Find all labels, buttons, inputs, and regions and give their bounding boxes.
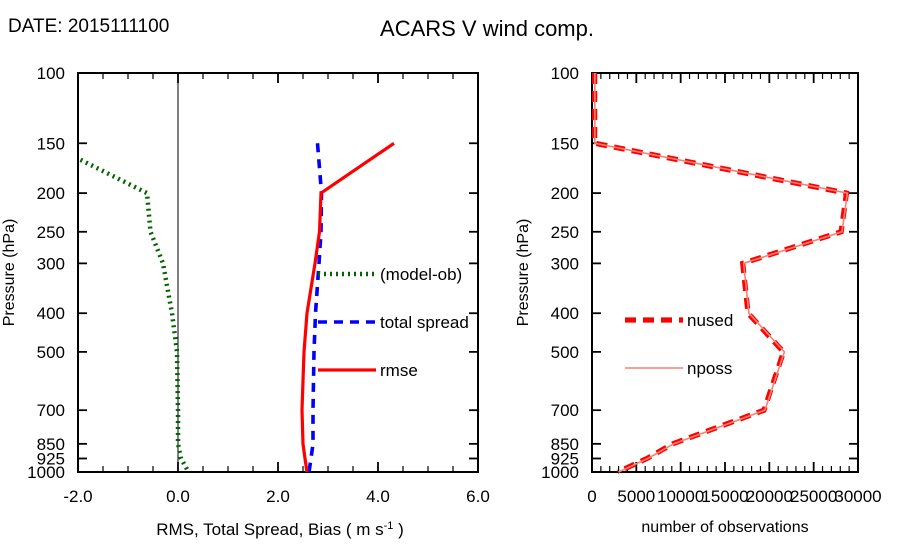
y-tick-label: 300 — [551, 254, 579, 273]
page-title: ACARS V wind comp. — [380, 16, 594, 41]
legend-label-nposs: nposs — [687, 359, 732, 378]
y-tick-label: 200 — [37, 184, 65, 203]
chart-page: DATE: 2015111100 ACARS V wind comp. 1001… — [0, 0, 900, 560]
y-tick-label: 100 — [551, 64, 579, 83]
y-tick-label: 250 — [551, 223, 579, 242]
left-x-axis-title-main: RMS, Total Spread, Bias ( m s — [156, 520, 383, 539]
x-tick-label: 5000 — [617, 487, 655, 506]
y-tick-label: 300 — [37, 254, 65, 273]
legend-label-total-spread: total spread — [380, 313, 469, 332]
y-tick-label: 400 — [551, 304, 579, 323]
y-tick-label: 700 — [37, 401, 65, 420]
y-tick-label: 150 — [37, 134, 65, 153]
y-axis-title: Pressure (hPa) — [515, 219, 532, 327]
y-tick-label: 250 — [37, 223, 65, 242]
y-tick-label: 100 — [37, 64, 65, 83]
x-tick-label: 4.0 — [366, 487, 390, 506]
y-tick-label: 150 — [551, 134, 579, 153]
legend-label--model-ob-: (model-ob) — [380, 265, 462, 284]
x-tick-label: -2.0 — [63, 487, 92, 506]
y-tick-label: 1000 — [541, 463, 579, 482]
y-tick-label: 200 — [551, 184, 579, 203]
x-tick-label: 25000 — [790, 487, 837, 506]
x-tick-label: 0 — [587, 487, 596, 506]
x-tick-label: 10000 — [657, 487, 704, 506]
y-tick-label: 700 — [551, 401, 579, 420]
legend-label-nused: nused — [687, 311, 733, 330]
x-tick-label: 2.0 — [266, 487, 290, 506]
x-tick-label: 0.0 — [166, 487, 190, 506]
left-x-axis-title-tail: ) — [393, 520, 403, 539]
x-tick-label: 6.0 — [466, 487, 490, 506]
right-x-axis-title: number of observations — [641, 519, 808, 536]
x-tick-label: 20000 — [746, 487, 793, 506]
y-axis-title: Pressure (hPa) — [1, 219, 18, 327]
figure-canvas: DATE: 2015111100 ACARS V wind comp. 1001… — [0, 0, 900, 560]
y-tick-label: 500 — [551, 343, 579, 362]
y-tick-label: 1000 — [27, 463, 65, 482]
date-label: DATE: 2015111100 — [8, 16, 169, 37]
legend-label-rmse: rmse — [380, 361, 418, 380]
left-x-axis-title-superscript: -1 — [384, 520, 394, 532]
x-tick-label: 15000 — [701, 487, 748, 506]
y-tick-label: 500 — [37, 343, 65, 362]
x-tick-label: 30000 — [834, 487, 881, 506]
y-tick-label: 400 — [37, 304, 65, 323]
left-x-axis-title: RMS, Total Spread, Bias ( m s-1 ) — [156, 520, 404, 539]
